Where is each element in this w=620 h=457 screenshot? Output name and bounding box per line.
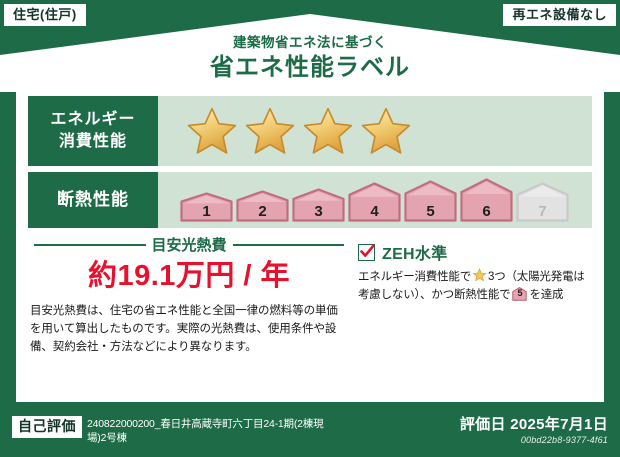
evaluation-date-value: 2025年7月1日 xyxy=(510,416,608,433)
footer-right: 評価日 2025年7月1日 00bd22b8-9377-4f61 xyxy=(460,416,608,445)
utility-cost-block: 目安光熱費 約19.1万円 / 年 目安光熱費は、住宅の省エネ性能と全国一律の燃… xyxy=(28,234,350,356)
insulation-grade-number: 6 xyxy=(460,204,513,219)
energy-label-line2: 消費性能 xyxy=(59,131,127,153)
energy-performance-label: エネルギー 消費性能 xyxy=(28,96,158,166)
star-rating xyxy=(186,106,412,156)
insulation-grade-house: 2 xyxy=(236,190,289,222)
star-icon xyxy=(244,106,296,156)
insulation-performance-row: 断熱性能 1234567 xyxy=(28,172,592,228)
evaluation-date: 評価日 2025年7月1日 xyxy=(460,416,608,434)
energy-label-line1: エネルギー xyxy=(50,109,135,131)
label-card: エネルギー 消費性能 断熱性能 1234567 目安光熱費 約19.1万円 / … xyxy=(16,86,604,402)
badge-renewable-energy: 再エネ設備なし xyxy=(503,4,616,26)
insulation-grade-house: 7 xyxy=(516,182,569,222)
zeh-title: ZEH水準 xyxy=(382,240,448,264)
energy-performance-value xyxy=(158,96,592,166)
star-icon xyxy=(360,106,412,156)
insulation-grade-house: 3 xyxy=(292,188,345,222)
utility-cost-heading-text: 目安光熱費 xyxy=(152,234,227,255)
star-icon xyxy=(302,106,354,156)
insulation-grade-house: 6 xyxy=(460,178,513,222)
star-icon xyxy=(472,268,487,282)
badge-self-evaluation: 自己評価 xyxy=(12,416,82,438)
house-badge-icon: 5 xyxy=(512,287,527,301)
insulation-grade-number: 7 xyxy=(516,204,569,219)
evaluation-id: 00bd22b8-9377-4f61 xyxy=(460,435,608,445)
check-icon xyxy=(359,243,376,260)
insulation-grade-number: 3 xyxy=(292,204,345,219)
footer: 自己評価 240822000200_春日井高蔵寺町六丁目24-1期(2棟現場)2… xyxy=(0,408,620,457)
badge-building-type: 住宅(住戸) xyxy=(4,4,86,26)
insulation-grade-scale: 1234567 xyxy=(180,178,569,222)
house-badge-number: 5 xyxy=(512,287,527,301)
insulation-performance-label: 断熱性能 xyxy=(28,172,158,228)
star-icon xyxy=(186,106,238,156)
insulation-performance-value: 1234567 xyxy=(158,172,592,228)
energy-performance-row: エネルギー 消費性能 xyxy=(28,96,592,166)
rule-left xyxy=(34,244,146,246)
utility-cost-note: 目安光熱費は、住宅の省エネ性能と全国一律の燃料等の単価を用いて算出したものです。… xyxy=(28,303,350,356)
insulation-grade-number: 1 xyxy=(180,204,233,219)
evaluation-date-label: 評価日 xyxy=(460,416,506,433)
insulation-grade-house: 4 xyxy=(348,182,401,222)
zeh-block: ZEH水準 エネルギー消費性能で3つ（太陽光発電は考慮しない）、かつ断熱性能で5… xyxy=(350,234,592,356)
utility-cost-value: 約19.1万円 / 年 xyxy=(28,261,350,293)
project-identifier: 240822000200_春日井高蔵寺町六丁目24-1期(2棟現場)2号棟 xyxy=(87,416,337,445)
zeh-description: エネルギー消費性能で3つ（太陽光発電は考慮しない）、かつ断熱性能で5を達成 xyxy=(358,268,592,305)
zeh-desc-part1: エネルギー消費性能で xyxy=(358,271,471,283)
insulation-grade-number: 4 xyxy=(348,204,401,219)
zeh-desc-part3: を達成 xyxy=(529,289,563,301)
insulation-grade-number: 5 xyxy=(404,204,457,219)
footer-left: 自己評価 240822000200_春日井高蔵寺町六丁目24-1期(2棟現場)2… xyxy=(12,416,460,445)
zeh-checkbox xyxy=(358,244,375,261)
insulation-grade-number: 2 xyxy=(236,204,289,219)
insulation-grade-house: 5 xyxy=(404,180,457,222)
rule-right xyxy=(233,244,345,246)
insulation-grade-house: 1 xyxy=(180,192,233,222)
details-section: 目安光熱費 約19.1万円 / 年 目安光熱費は、住宅の省エネ性能と全国一律の燃… xyxy=(28,234,592,356)
utility-cost-heading: 目安光熱費 xyxy=(28,234,350,255)
zeh-heading: ZEH水準 xyxy=(358,240,592,264)
